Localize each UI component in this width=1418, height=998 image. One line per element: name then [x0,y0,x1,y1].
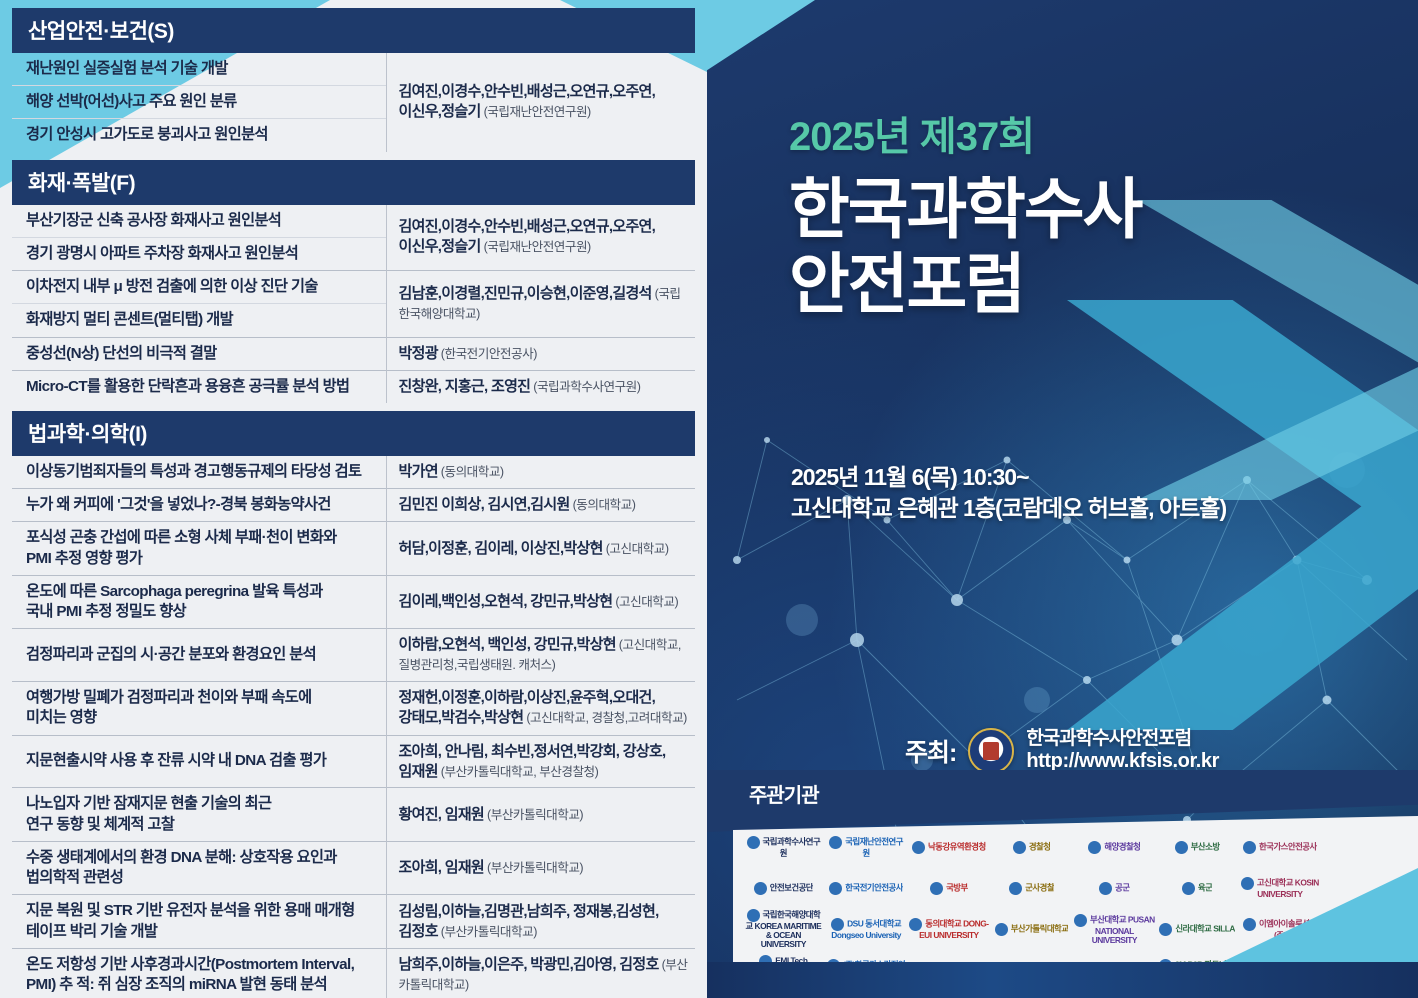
organizers-label: 주관기관 [749,779,819,808]
organizer-logo: 부산소방 [1157,828,1238,866]
presentation-title: 경기 광명시 아파트 주차장 화재사고 원인분석 [12,237,386,270]
presentation-authors: 이하람,오현석, 백인성, 강민규,박상현 (고신대학교, 질병관리청,국립생태… [386,629,695,682]
organizer-logo: 군사경찰 [991,869,1072,907]
table-row: 포식성 곤충 간섭에 따른 소형 사체 부패·천이 변화와PMI 추정 영향 평… [12,522,695,575]
section-spacer [12,152,695,160]
table-row: 온도에 따른 Sarcophaga peregrina 발육 특성과국내 PMI… [12,575,695,628]
table-row: 지문 복원 및 STR 기반 유전자 분석을 위한 용매 매개형테이프 박리 기… [12,895,695,948]
author-affiliation: (고신대학교, 질병관리청,국립생태원. 캐처스) [399,638,681,672]
organizer-logo: 공군 [1074,869,1155,907]
organizer-logo-label: 공군 [1099,882,1129,895]
organizer-logo-label: 국립과학수사연구원 [743,836,824,858]
presentation-authors: 김이레,백인성,오현석, 강민규,박상현 (고신대학교) [386,575,695,628]
organizer-logo: 국방부 [909,869,990,907]
organizer-logo: 국립과학수사연구원 [743,828,824,866]
organizer-logo: 한국전기안전공사 [826,869,907,907]
organizer-logo-label: 한국전기안전공사 [829,882,903,895]
author-affiliation: (국립재난안전연구원) [481,105,591,119]
presentation-authors: 김성림,이하늘,김명관,남희주, 정재봉,김성현,김정호 (부산카톨릭대학교) [386,895,695,948]
presentation-title: Micro-CT를 활용한 단락흔과 용융흔 공극률 분석 방법 [12,370,386,403]
section-table-industrial-safety-health: 재난원인 실증실험 분석 기술 개발김여진,이경수,안수빈,배성근,오연규,오주… [12,53,695,152]
organizer-logo: 국립한국해양대학교 KOREA MARITIME & OCEAN UNIVERS… [743,910,824,948]
organizer-logo: 한국가스안전공사 [1240,828,1321,866]
kfsis-emblem-icon [968,728,1014,774]
host-text: 한국과학수사안전포럼 http://www.kfsis.or.kr [1026,728,1219,773]
presentation-authors: 남희주,이하늘,이은주, 박광민,김아영, 김정호 (부산카톨릭대학교) [386,948,695,998]
event-datetime: 2025년 11월 6(목) 10:30~ [791,462,1226,493]
section-spacer [12,403,695,411]
table-row: 재난원인 실증실험 분석 기술 개발김여진,이경수,안수빈,배성근,오연규,오주… [12,53,695,86]
presentation-title: 지문현출시약 사용 후 잔류 시약 내 DNA 검출 평가 [12,735,386,788]
organizer-logo-mark-icon [831,918,844,931]
presentation-title: 온도 저항성 기반 사후경과시간(Postmortem Interval,PMI… [12,948,386,998]
organizer-logo-mark-icon [1241,877,1254,890]
presentation-title: 재난원인 실증실험 분석 기술 개발 [12,53,386,86]
author-affiliation: (고신대학교, 경찰청,고려대학교) [523,711,687,725]
author-affiliation: (부산카톨릭대학교) [484,808,583,822]
organizer-logo: DSU 동서대학교 Dongseo University [826,910,907,948]
table-row: Micro-CT를 활용한 단락흔과 용융흔 공극률 분석 방법진창완, 지홍근… [12,370,695,403]
organizer-logo: 육군 [1157,869,1238,907]
organizer-logo: 해양경찰청 [1074,828,1155,866]
hero-panel: 2025년 제37회 한국과학수사 안전포럼 2025년 11월 6(목) 10… [707,0,1418,998]
author-affiliation: (국립과학수사연구원) [530,380,640,394]
organizer-logo-mark-icon [1009,882,1022,895]
table-row: 부산기장군 신축 공사장 화재사고 원인분석김여진,이경수,안수빈,배성근,오연… [12,205,695,238]
organizer-logo-mark-icon [1088,841,1101,854]
title-line-1: 한국과학수사 [789,172,1141,246]
organizer-logo-label: 고신대학교 KOSIN UNIVERSITY [1240,877,1321,899]
organizer-logo-label: 부산가톨릭대학교 [995,923,1069,936]
author-affiliation: (동의대학교) [570,498,636,512]
organizer-logo-empty [1322,828,1403,866]
event-meta: 2025년 11월 6(목) 10:30~ 고신대학교 은혜관 1층(코람데오 … [791,462,1226,524]
presentation-authors: 조아희, 임재원 (부산카톨릭대학교) [386,841,695,894]
organizer-logo-mark-icon [995,923,1008,936]
presentation-title: 검정파리과 군집의 시·공간 분포와 환경요인 분석 [12,629,386,682]
conference-poster: 산업안전·보건(S)재난원인 실증실험 분석 기술 개발김여진,이경수,안수빈,… [0,0,1418,998]
organizer-logo-label: DSU 동서대학교 Dongseo University [826,918,907,940]
author-affiliation: (부산카톨릭대학교) [484,861,583,875]
author-affiliation: (국립한국해양대학교) [399,287,681,321]
organizer-logo-mark-icon [829,836,842,849]
section-header-forensic-science-medicine: 법과학·의학(I) [12,411,695,456]
organizer-logo-label: 부산소방 [1175,841,1220,854]
presentation-title: 화재방지 멀티 콘센트(멀티탭) 개발 [12,304,386,337]
table-row: 나노입자 기반 잠재지문 현출 기술의 최근연구 동향 및 체계적 고찰황여진,… [12,788,695,841]
author-affiliation: (부산카톨릭대학교, 부산경찰청) [438,765,599,779]
author-affiliation: (한국전기안전공사) [438,347,537,361]
organizer-logo-label: 국방부 [930,882,968,895]
organizer-logo-mark-icon [829,882,842,895]
presentation-title: 지문 복원 및 STR 기반 유전자 분석을 위한 용매 매개형테이프 박리 기… [12,895,386,948]
organizer-logo-mark-icon [1159,923,1172,936]
presentation-title: 경기 안성시 고가도로 붕괴사고 원인분석 [12,119,386,152]
presentation-authors: 정재헌,이정훈,이하람,이상진,윤주혁,오대건,강태모,박검수,박상현 (고신대… [386,682,695,735]
table-row: 수중 생태계에서의 환경 DNA 분해: 상호작용 요인과법의학적 관련성조아희… [12,841,695,894]
presentation-authors: 김남훈,이경렬,진민규,이승현,이준영,길경석 (국립한국해양대학교) [386,271,695,337]
presentation-title: 온도에 따른 Sarcophaga peregrina 발육 특성과국내 PMI… [12,575,386,628]
organizer-logo: 낙동강유역환경청 [909,828,990,866]
edition-label: 2025년 제37회 [789,104,1141,162]
event-venue: 고신대학교 은혜관 1층(코람데오 허브홀, 아트홀) [791,493,1226,524]
organizer-logo-mark-icon [754,882,767,895]
organizer-logo: 부산대학교 PUSAN NATIONAL UNIVERSITY [1074,910,1155,948]
author-affiliation: (국립재난안전연구원) [481,240,591,254]
section-header-fire-explosion: 화재·폭발(F) [12,160,695,205]
organizer-logo-label: 육군 [1182,882,1212,895]
presentation-authors: 진창완, 지홍근, 조영진 (국립과학수사연구원) [386,370,695,403]
presentation-title: 이차전지 내부 μ 방전 검출에 의한 이상 진단 기술 [12,271,386,304]
table-row: 이차전지 내부 μ 방전 검출에 의한 이상 진단 기술김남훈,이경렬,진민규,… [12,271,695,304]
author-affiliation: (고신대학교) [603,542,669,556]
organizer-logo-mark-icon [1074,914,1087,927]
organizers-band: 주관기관 국립과학수사연구원국립재난안전연구원낙동강유역환경청경찰청해양경찰청부… [707,770,1418,998]
organizer-logo-mark-icon [1243,841,1256,854]
table-row: 검정파리과 군집의 시·공간 분포와 환경요인 분석이하람,오현석, 백인성, … [12,629,695,682]
organizer-logo-label: 해양경찰청 [1088,841,1140,854]
organizer-logo: 국립재난안전연구원 [826,828,907,866]
presentation-title: 포식성 곤충 간섭에 따른 소형 사체 부패·천이 변화와PMI 추정 영향 평… [12,522,386,575]
presentation-title: 이상동기범죄자들의 특성과 경고행동규제의 타당성 검토 [12,456,386,489]
presentation-title: 부산기장군 신축 공사장 화재사고 원인분석 [12,205,386,238]
presentation-title: 중성선(N상) 단선의 비극적 결말 [12,337,386,370]
organizer-logo-mark-icon [912,841,925,854]
presentation-authors: 허담,이정훈, 김이레, 이상진,박상현 (고신대학교) [386,522,695,575]
program-panel: 산업안전·보건(S)재난원인 실증실험 분석 기술 개발김여진,이경수,안수빈,… [0,0,707,998]
presentation-title: 수중 생태계에서의 환경 DNA 분해: 상호작용 요인과법의학적 관련성 [12,841,386,894]
organizer-logo: 안전보건공단 [743,869,824,907]
organizer-logo-label: 안전보건공단 [754,882,813,895]
section-table-fire-explosion: 부산기장군 신축 공사장 화재사고 원인분석김여진,이경수,안수빈,배성근,오연… [12,205,695,403]
organizer-logo: 고신대학교 KOSIN UNIVERSITY [1240,869,1321,907]
presentation-authors: 조아희, 안나림, 최수빈,정서연,박강회, 강상호,임재원 (부산카톨릭대학교… [386,735,695,788]
author-affiliation: (부산카톨릭대학교) [399,958,688,992]
table-row: 누가 왜 커피에 '그것'을 넣었나?-경북 봉화농약사건김민진 이희상, 김시… [12,489,695,522]
organizer-logo-label: 국립한국해양대학교 KOREA MARITIME & OCEAN UNIVERS… [743,909,824,948]
title-block: 2025년 제37회 한국과학수사 안전포럼 [789,104,1141,322]
organizer-logo-mark-icon [1182,882,1195,895]
presentation-authors: 김민진 이희상, 김시연,김시원 (동의대학교) [386,489,695,522]
table-row: 이상동기범죄자들의 특성과 경고행동규제의 타당성 검토박가연 (동의대학교) [12,456,695,489]
author-affiliation: (동의대학교) [438,465,504,479]
organizer-logo: 경찰청 [991,828,1072,866]
author-affiliation: (고신대학교) [612,595,678,609]
organizer-logo-mark-icon [1099,882,1112,895]
organizer-logo-label: 경찰청 [1013,841,1051,854]
presentation-title: 나노입자 기반 잠재지문 현출 기술의 최근연구 동향 및 체계적 고찰 [12,788,386,841]
presentation-authors: 김여진,이경수,안수빈,배성근,오연규,오주연,이신우,정슬기 (국립재난안전연… [386,205,695,271]
host-name: 한국과학수사안전포럼 [1026,728,1219,750]
title-line-2: 안전포럼 [789,247,1141,322]
organizer-logo: 신라대학교 SILLA [1157,910,1238,948]
organizer-logo-mark-icon [909,918,922,931]
presentation-authors: 박정광 (한국전기안전공사) [386,337,695,370]
host-row: 주최: 한국과학수사안전포럼 http://www.kfsis.or.kr [905,728,1219,774]
presentation-title: 해양 선박(어선)사고 주요 원인 분류 [12,86,386,119]
presentation-authors: 황여진, 임재원 (부산카톨릭대학교) [386,788,695,841]
organizer-logo-label: 동의대학교 DONG-EUI UNIVERSITY [909,918,990,940]
section-header-industrial-safety-health: 산업안전·보건(S) [12,8,695,53]
table-row: 여행가방 밀폐가 검정파리과 천이와 부패 속도에미치는 영향정재헌,이정훈,이… [12,682,695,735]
organizer-logo: 동의대학교 DONG-EUI UNIVERSITY [909,910,990,948]
organizer-logo-label: 국립재난안전연구원 [826,836,907,858]
presentation-title: 여행가방 밀폐가 검정파리과 천이와 부패 속도에미치는 영향 [12,682,386,735]
organizer-logo-label: 신라대학교 SILLA [1159,923,1235,936]
presentation-title: 누가 왜 커피에 '그것'을 넣었나?-경북 봉화농약사건 [12,489,386,522]
section-table-forensic-science-medicine: 이상동기범죄자들의 특성과 경고행동규제의 타당성 검토박가연 (동의대학교)누… [12,456,695,998]
organizer-logo-label: 낙동강유역환경청 [912,841,986,854]
organizer-logo-mark-icon [1013,841,1026,854]
bottom-strip [707,962,1418,998]
organizer-logo-mark-icon [1175,841,1188,854]
organizer-logo-mark-icon [930,882,943,895]
organizer-logo-mark-icon [1243,918,1256,931]
presentation-authors: 박가연 (동의대학교) [386,456,695,489]
organizer-logo-label: 한국가스안전공사 [1243,841,1317,854]
organizer-logo-label: 군사경찰 [1009,882,1054,895]
host-label: 주최: [905,733,956,769]
organizer-logo-mark-icon [747,836,760,849]
author-affiliation: (부산카톨릭대학교) [438,925,537,939]
organizer-logo-mark-icon [747,909,760,922]
page-title: 한국과학수사 안전포럼 [789,172,1141,322]
program-table: 산업안전·보건(S)재난원인 실증실험 분석 기술 개발김여진,이경수,안수빈,… [0,0,707,998]
presentation-authors: 김여진,이경수,안수빈,배성근,오연규,오주연,이신우,정슬기 (국립재난안전연… [386,53,695,152]
table-row: 중성선(N상) 단선의 비극적 결말박정광 (한국전기안전공사) [12,337,695,370]
table-row: 온도 저항성 기반 사후경과시간(Postmortem Interval,PMI… [12,948,695,998]
organizer-logo-label: 부산대학교 PUSAN NATIONAL UNIVERSITY [1074,914,1155,945]
table-row: 지문현출시약 사용 후 잔류 시약 내 DNA 검출 평가조아희, 안나림, 최… [12,735,695,788]
organizer-logo: 부산가톨릭대학교 [991,910,1072,948]
